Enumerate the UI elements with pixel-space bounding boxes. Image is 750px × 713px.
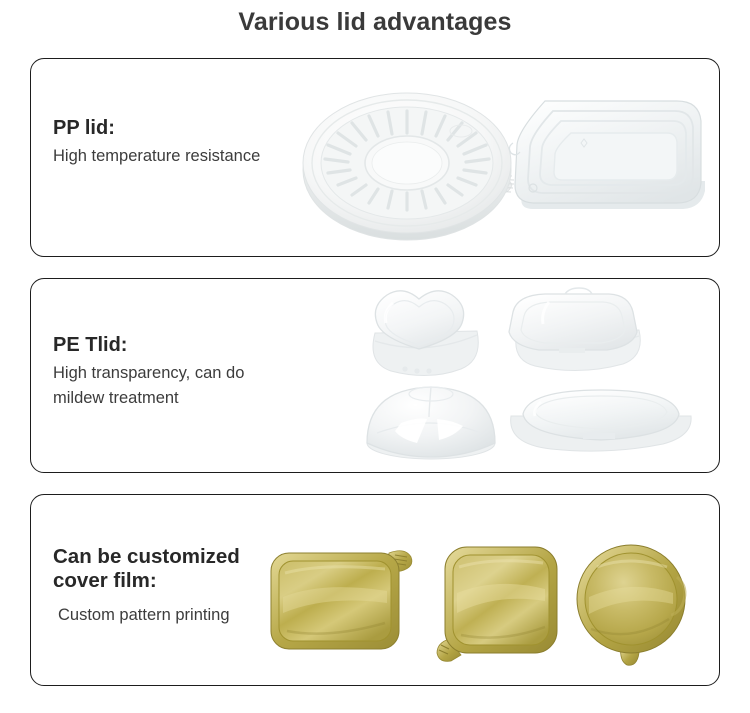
square-pe-lid-image bbox=[499, 282, 659, 380]
rectangular-pp-lid-image bbox=[501, 81, 716, 236]
page-title: Various lid advantages bbox=[0, 8, 750, 37]
gold-square-foil-lid-image bbox=[435, 541, 575, 667]
pe-lid-text-block: PE Tlid: High transparency, can do milde… bbox=[53, 334, 244, 412]
round-pp-lid-image bbox=[299, 75, 534, 245]
pp-lid-heading: PP lid: bbox=[53, 117, 260, 141]
card-cover-film: Can be customized cover film: Custom pat… bbox=[30, 494, 720, 686]
pp-lid-subtitle: High temperature resistance bbox=[53, 144, 260, 170]
pp-lid-text-block: PP lid: High temperature resistance bbox=[53, 117, 260, 169]
pe-lid-subtitle: High transparency, can do mildew treatme… bbox=[53, 361, 244, 412]
heart-pe-lid-image bbox=[353, 281, 503, 386]
dome-pe-lid-image bbox=[361, 377, 516, 462]
gold-round-foil-lid-image bbox=[569, 541, 701, 669]
cover-film-text-block: Can be customized cover film: Custom pat… bbox=[53, 545, 240, 629]
cover-film-subtitle: Custom pattern printing bbox=[53, 603, 240, 629]
card-pe-lid: PE Tlid: High transparency, can do milde… bbox=[30, 278, 720, 473]
cover-film-heading: Can be customized cover film: bbox=[53, 545, 240, 593]
product-feature-page: Various lid advantages bbox=[0, 0, 750, 713]
gold-rect-foil-lid-image bbox=[267, 543, 427, 661]
pe-lid-heading: PE Tlid: bbox=[53, 334, 244, 358]
oval-pe-lid-image bbox=[501, 384, 701, 456]
card-pp-lid: PP lid: High temperature resistance bbox=[30, 58, 720, 257]
